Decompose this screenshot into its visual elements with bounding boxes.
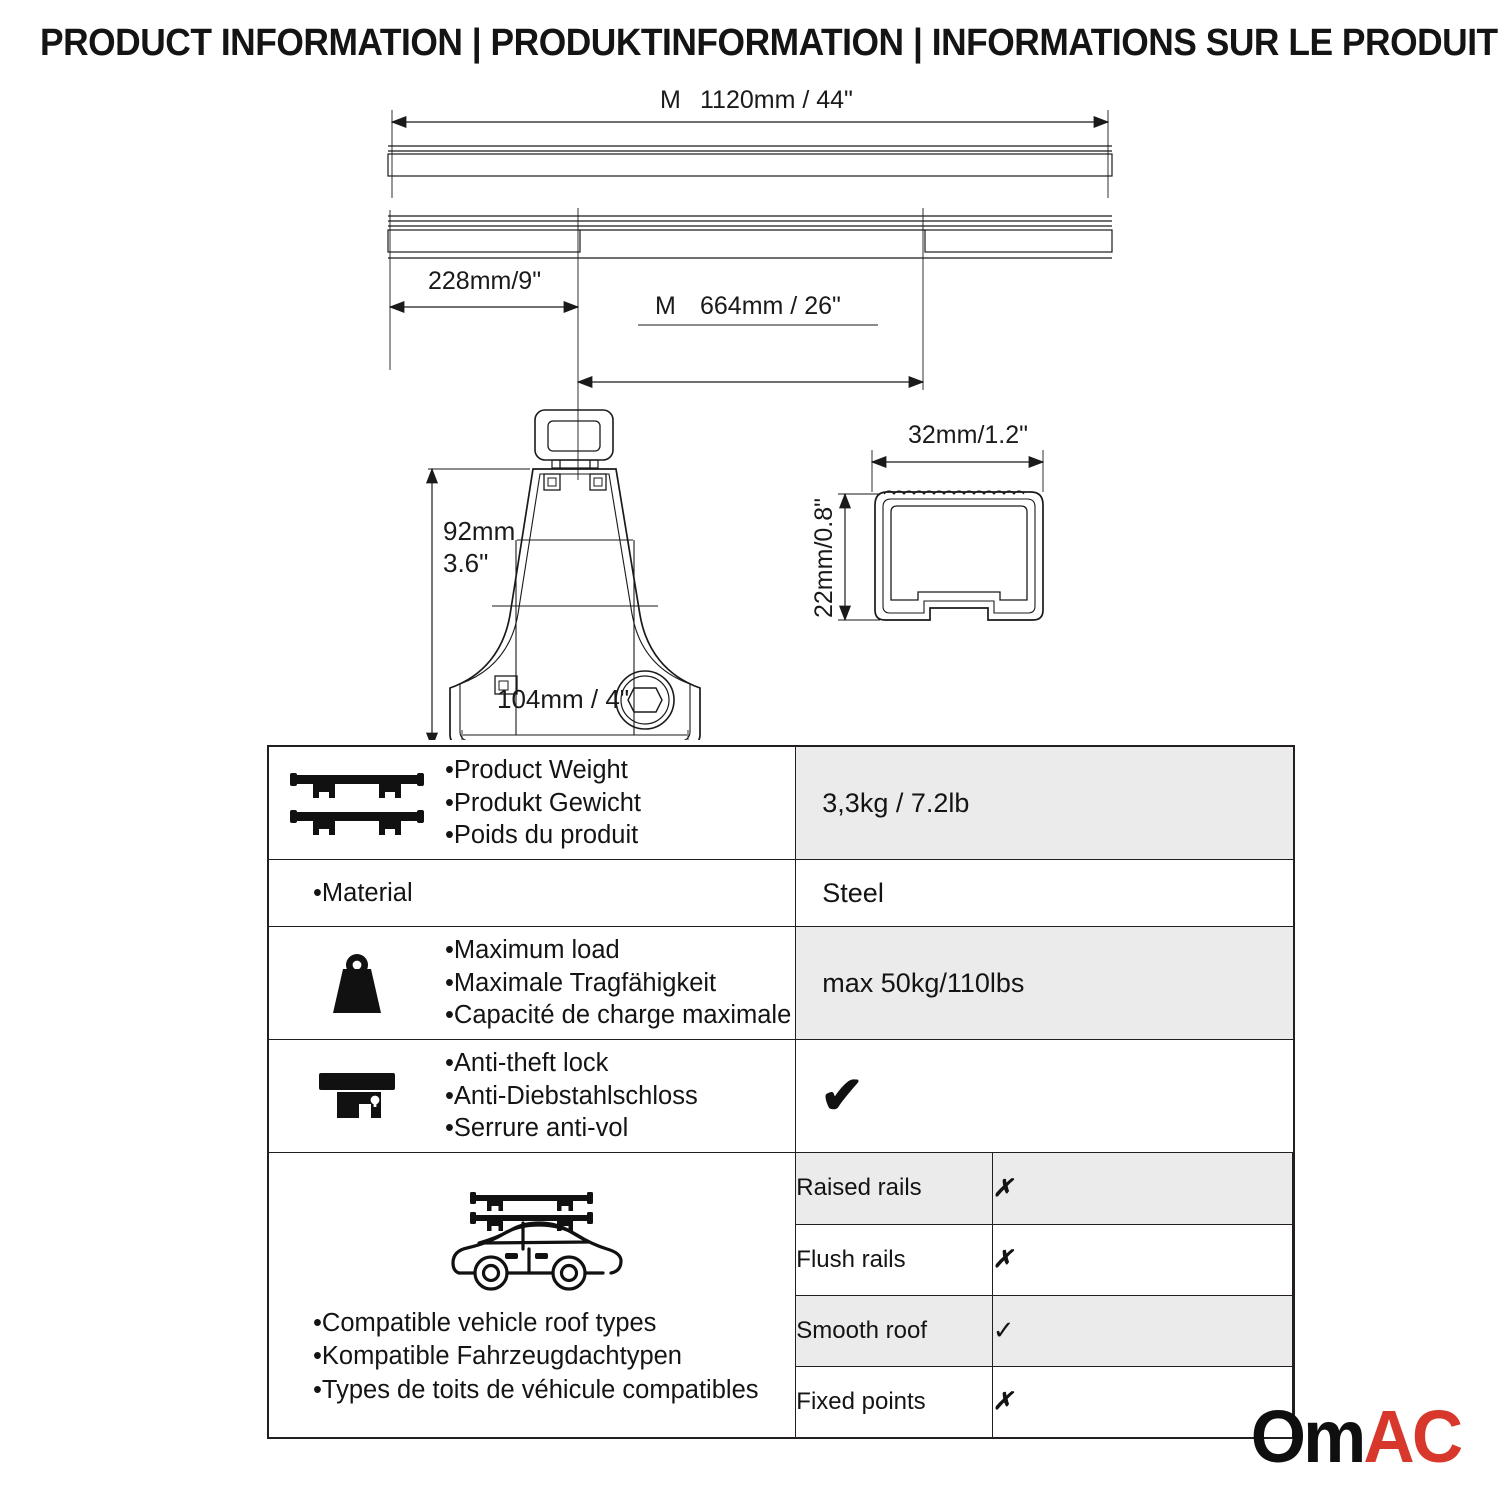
product-information-sheet: PRODUCT INFORMATION | PRODUKTINFORMATION…	[0, 0, 1500, 1500]
spread-label: M	[655, 292, 676, 320]
compat-label-line: •Compatible vehicle roof types	[313, 1307, 789, 1340]
spec-label-line: •Poids du produit	[445, 819, 791, 852]
spec-label-line: •Anti-Diebstahlschloss	[445, 1080, 791, 1113]
roof-type-label: Smooth roof	[796, 1295, 992, 1366]
roof-type-mark: ✗	[992, 1153, 1292, 1224]
weight-icon	[269, 947, 445, 1019]
roof-type-label: Fixed points	[796, 1366, 992, 1437]
spec-label-line: •Product Weight	[445, 754, 791, 787]
compatibility-options-cell: Raised rails ✗ Flush rails ✗ Smooth roof…	[796, 1153, 1294, 1439]
logo-text-accent: AC	[1363, 1395, 1460, 1478]
roof-type-mark: ✗	[992, 1224, 1292, 1295]
spec-label-line: •Material	[313, 877, 791, 910]
lock-foot-icon	[269, 1065, 445, 1127]
roof-type-label: Flush rails	[796, 1224, 992, 1295]
spec-value-cell: Steel	[796, 860, 1294, 927]
roof-type-table: Raised rails ✗ Flush rails ✗ Smooth roof…	[796, 1153, 1293, 1437]
specification-table: •Product Weight •Produkt Gewicht •Poids …	[267, 745, 1295, 1439]
roof-type-row: Smooth roof ✓	[796, 1295, 1292, 1366]
compat-label-line: •Kompatible Fahrzeugdachtypen	[313, 1340, 789, 1373]
bar-length-value: 1120mm / 44"	[700, 86, 853, 114]
table-row: •Maximum load •Maximale Tragfähigkeit •C…	[268, 927, 1294, 1040]
foot-height-mm: 92mm	[443, 516, 515, 546]
foot-width-value: 104mm / 4"	[497, 684, 629, 714]
spec-label-line: •Anti-theft lock	[445, 1047, 791, 1080]
table-row: •Anti-theft lock •Anti-Diebstahlschloss …	[268, 1040, 1294, 1153]
spec-value-cell: ✔	[796, 1040, 1294, 1153]
spec-label-line: •Produkt Gewicht	[445, 787, 791, 820]
roof-type-row: Raised rails ✗	[796, 1153, 1292, 1224]
table-row: •Product Weight •Produkt Gewicht •Poids …	[268, 746, 1294, 860]
spread-value: 664mm / 26"	[700, 292, 841, 320]
table-row: •Material Steel	[268, 860, 1294, 927]
roof-type-row: Flush rails ✗	[796, 1224, 1292, 1295]
profile-height-value: 22mm/0.8"	[810, 498, 838, 618]
foot-height-in: 3.6"	[443, 548, 488, 578]
spec-value-cell: 3,3kg / 7.2lb	[796, 746, 1294, 860]
omac-logo: OmAC	[1250, 1400, 1460, 1474]
compat-label-line: •Types de toits de véhicule compatibles	[313, 1374, 789, 1407]
anti-theft-check-mark: ✔	[796, 1070, 1293, 1122]
roof-type-label: Raised rails	[796, 1153, 992, 1224]
profile-width-value: 32mm/1.2"	[908, 421, 1028, 449]
roof-type-mark: ✗	[992, 1366, 1292, 1437]
compatibility-label-cell: •Compatible vehicle roof types •Kompatib…	[268, 1153, 796, 1439]
spec-label-cell: •Material	[268, 860, 796, 927]
spec-label-line: •Maximum load	[445, 934, 791, 967]
spec-value-cell: max 50kg/110lbs	[796, 927, 1294, 1040]
roof-type-row: Fixed points ✗	[796, 1366, 1292, 1437]
technical-drawings: M 1120mm / 44"	[0, 80, 1500, 740]
crossbar-pair-icon	[269, 767, 445, 839]
spec-label-line: •Maximale Tragfähigkeit	[445, 967, 791, 1000]
spec-label-line: •Capacité de charge maximale	[445, 999, 791, 1032]
spec-label-cell: •Maximum load •Maximale Tragfähigkeit •C…	[268, 927, 796, 1040]
spec-label-cell: •Anti-theft lock •Anti-Diebstahlschloss …	[268, 1040, 796, 1153]
table-row-compatibility: •Compatible vehicle roof types •Kompatib…	[268, 1153, 1294, 1439]
material-value: Steel	[796, 878, 1293, 909]
max-load-value: max 50kg/110lbs	[796, 968, 1293, 999]
car-with-crossbars-icon	[269, 1183, 795, 1307]
roof-type-mark: ✓	[992, 1295, 1292, 1366]
page-title: PRODUCT INFORMATION | PRODUKTINFORMATION…	[40, 22, 1370, 65]
foot-offset-value: 228mm/9"	[428, 267, 541, 295]
spec-label-cell: •Product Weight •Produkt Gewicht •Poids …	[268, 746, 796, 860]
product-weight-value: 3,3kg / 7.2lb	[796, 788, 1293, 819]
bar-length-label: M	[660, 86, 681, 114]
logo-text-primary: Om	[1250, 1395, 1363, 1478]
spec-label-line: •Serrure anti-vol	[445, 1112, 791, 1145]
